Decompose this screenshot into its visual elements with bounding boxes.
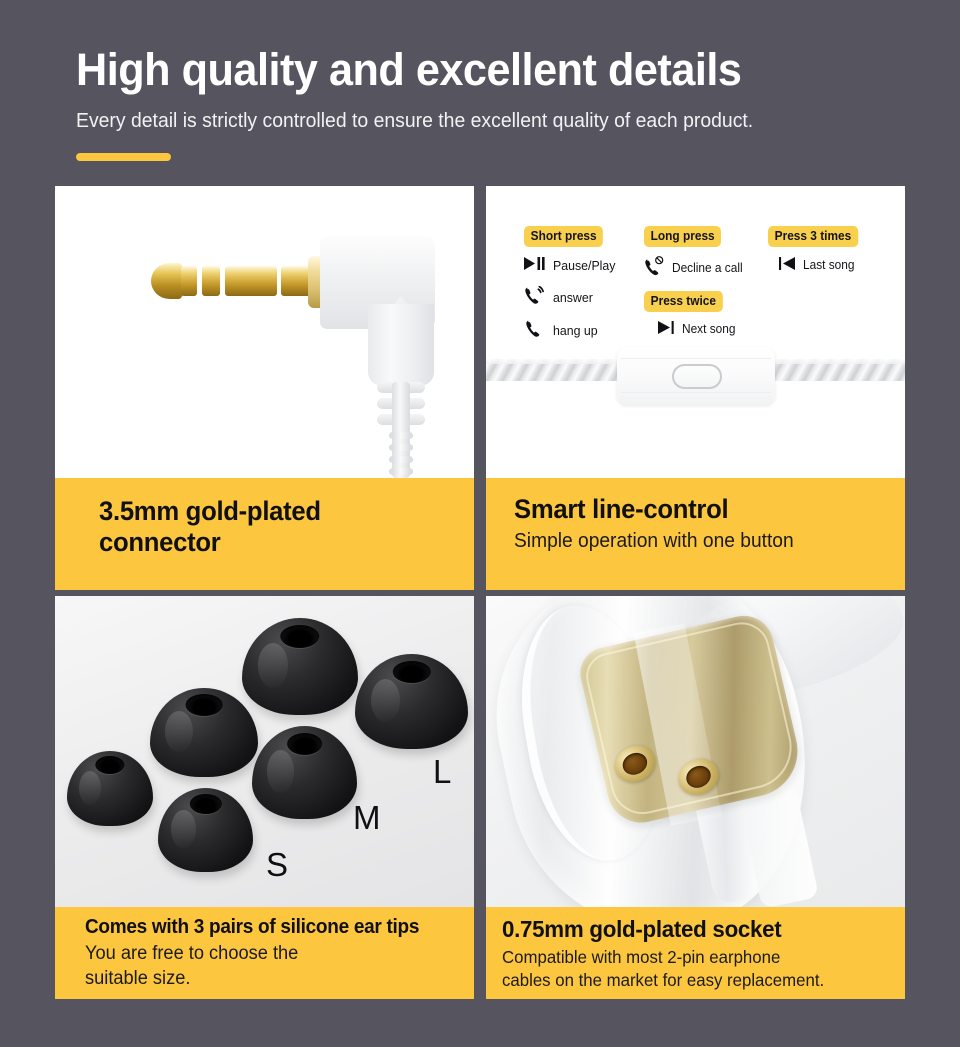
remote-button[interactable] [672,364,722,389]
legend-item-pause-play: Pause/Play [524,256,619,274]
legend-item-last-song: Last song [779,256,857,274]
legend-label: Last song [803,258,855,272]
ear-tip [355,654,468,749]
legend-item-next-song: Next song [658,320,738,338]
page-title: High quality and excellent details [76,44,741,96]
accent-bar [76,153,171,161]
inline-remote-module [617,347,775,405]
line-control-caption-title: Smart line-control [514,494,868,525]
ear-tip [67,751,153,826]
line-control-caption: Smart line-control Simple operation with… [486,478,905,590]
previous-track-icon [779,256,799,274]
socket-caption-subtitle-line1: Compatible with most 2-pin earphone [502,946,877,969]
connector-caption: 3.5mm gold-plated connector [55,478,474,590]
cable-twist [389,468,413,475]
badge-press-3-times: Press 3 times [768,226,858,247]
legend-label: Next song [682,322,735,336]
plug-pin-segment [281,266,311,296]
badge-press-twice: Press twice [644,291,723,312]
line-control-photo: Short press Pause/Play [486,186,905,478]
ear-tips-caption-subtitle-line1: You are free to choose the [85,942,445,966]
cable-twist [389,432,413,439]
plug-pin-segment [225,266,277,296]
ear-tip [242,618,358,715]
next-track-icon [658,320,678,338]
cable-twist [389,456,413,463]
plug-pin-tip [151,263,185,299]
line-control-caption-subtitle: Simple operation with one button [514,529,872,555]
ear-tips-caption: Comes with 3 pairs of silicone ear tips … [55,907,474,999]
legend-label: Decline a call [672,261,743,275]
cable-twist [389,444,413,451]
feature-card-socket: 0.75mm gold-plated socket Compatible wit… [486,596,905,999]
ear-tips-photo: L M S [55,596,474,907]
legend-label: answer [553,290,593,305]
legend-item-hang-up: hang up [524,319,600,342]
page-subtitle: Every detail is strictly controlled to e… [76,110,753,133]
plug-housing-vertical [368,304,434,386]
cable [392,382,410,478]
ear-tip [150,688,258,777]
size-label-l: L [433,753,451,791]
feature-card-connector: 3.5mm gold-plated connector [55,186,474,590]
legend-label: hang up [553,323,598,338]
legend-label: Pause/Play [553,258,615,273]
ear-tip [252,726,357,819]
plug-pin-segment [181,266,197,296]
phone-answer-icon [524,286,546,309]
play-pause-icon [524,256,546,274]
product-infographic: High quality and excellent details Every… [0,0,960,1047]
legend-item-decline-call: Decline a call [644,256,746,279]
ear-tips-caption-title: Comes with 3 pairs of silicone ear tips [85,916,441,939]
feature-card-line-control: Short press Pause/Play [486,186,905,590]
plug-pin-segment [202,266,220,296]
size-label-s: S [266,846,288,884]
socket-caption: 0.75mm gold-plated socket Compatible wit… [486,907,905,999]
phone-decline-icon [644,256,668,279]
badge-long-press: Long press [644,226,721,247]
badge-short-press: Short press [524,226,603,247]
ear-tips-caption-subtitle-line2: suitable size. [85,967,445,991]
header: High quality and excellent details Every… [0,0,960,186]
connector-photo [55,186,474,478]
ear-tip [158,788,253,872]
socket-caption-title: 0.75mm gold-plated socket [502,916,873,943]
phone-hangup-icon [524,319,546,342]
feature-card-ear-tips: L M S Comes with 3 pairs of silicone ear… [55,596,474,999]
feature-grid: 3.5mm gold-plated connector Short press [55,186,905,1005]
connector-caption-title-line2: connector [99,527,438,558]
connector-caption-title-line1: 3.5mm gold-plated [99,496,438,527]
socket-photo [486,596,905,907]
size-label-m: M [353,799,381,837]
socket-caption-subtitle-line2: cables on the market for easy replacemen… [502,969,877,992]
legend-item-answer: answer [524,286,595,309]
